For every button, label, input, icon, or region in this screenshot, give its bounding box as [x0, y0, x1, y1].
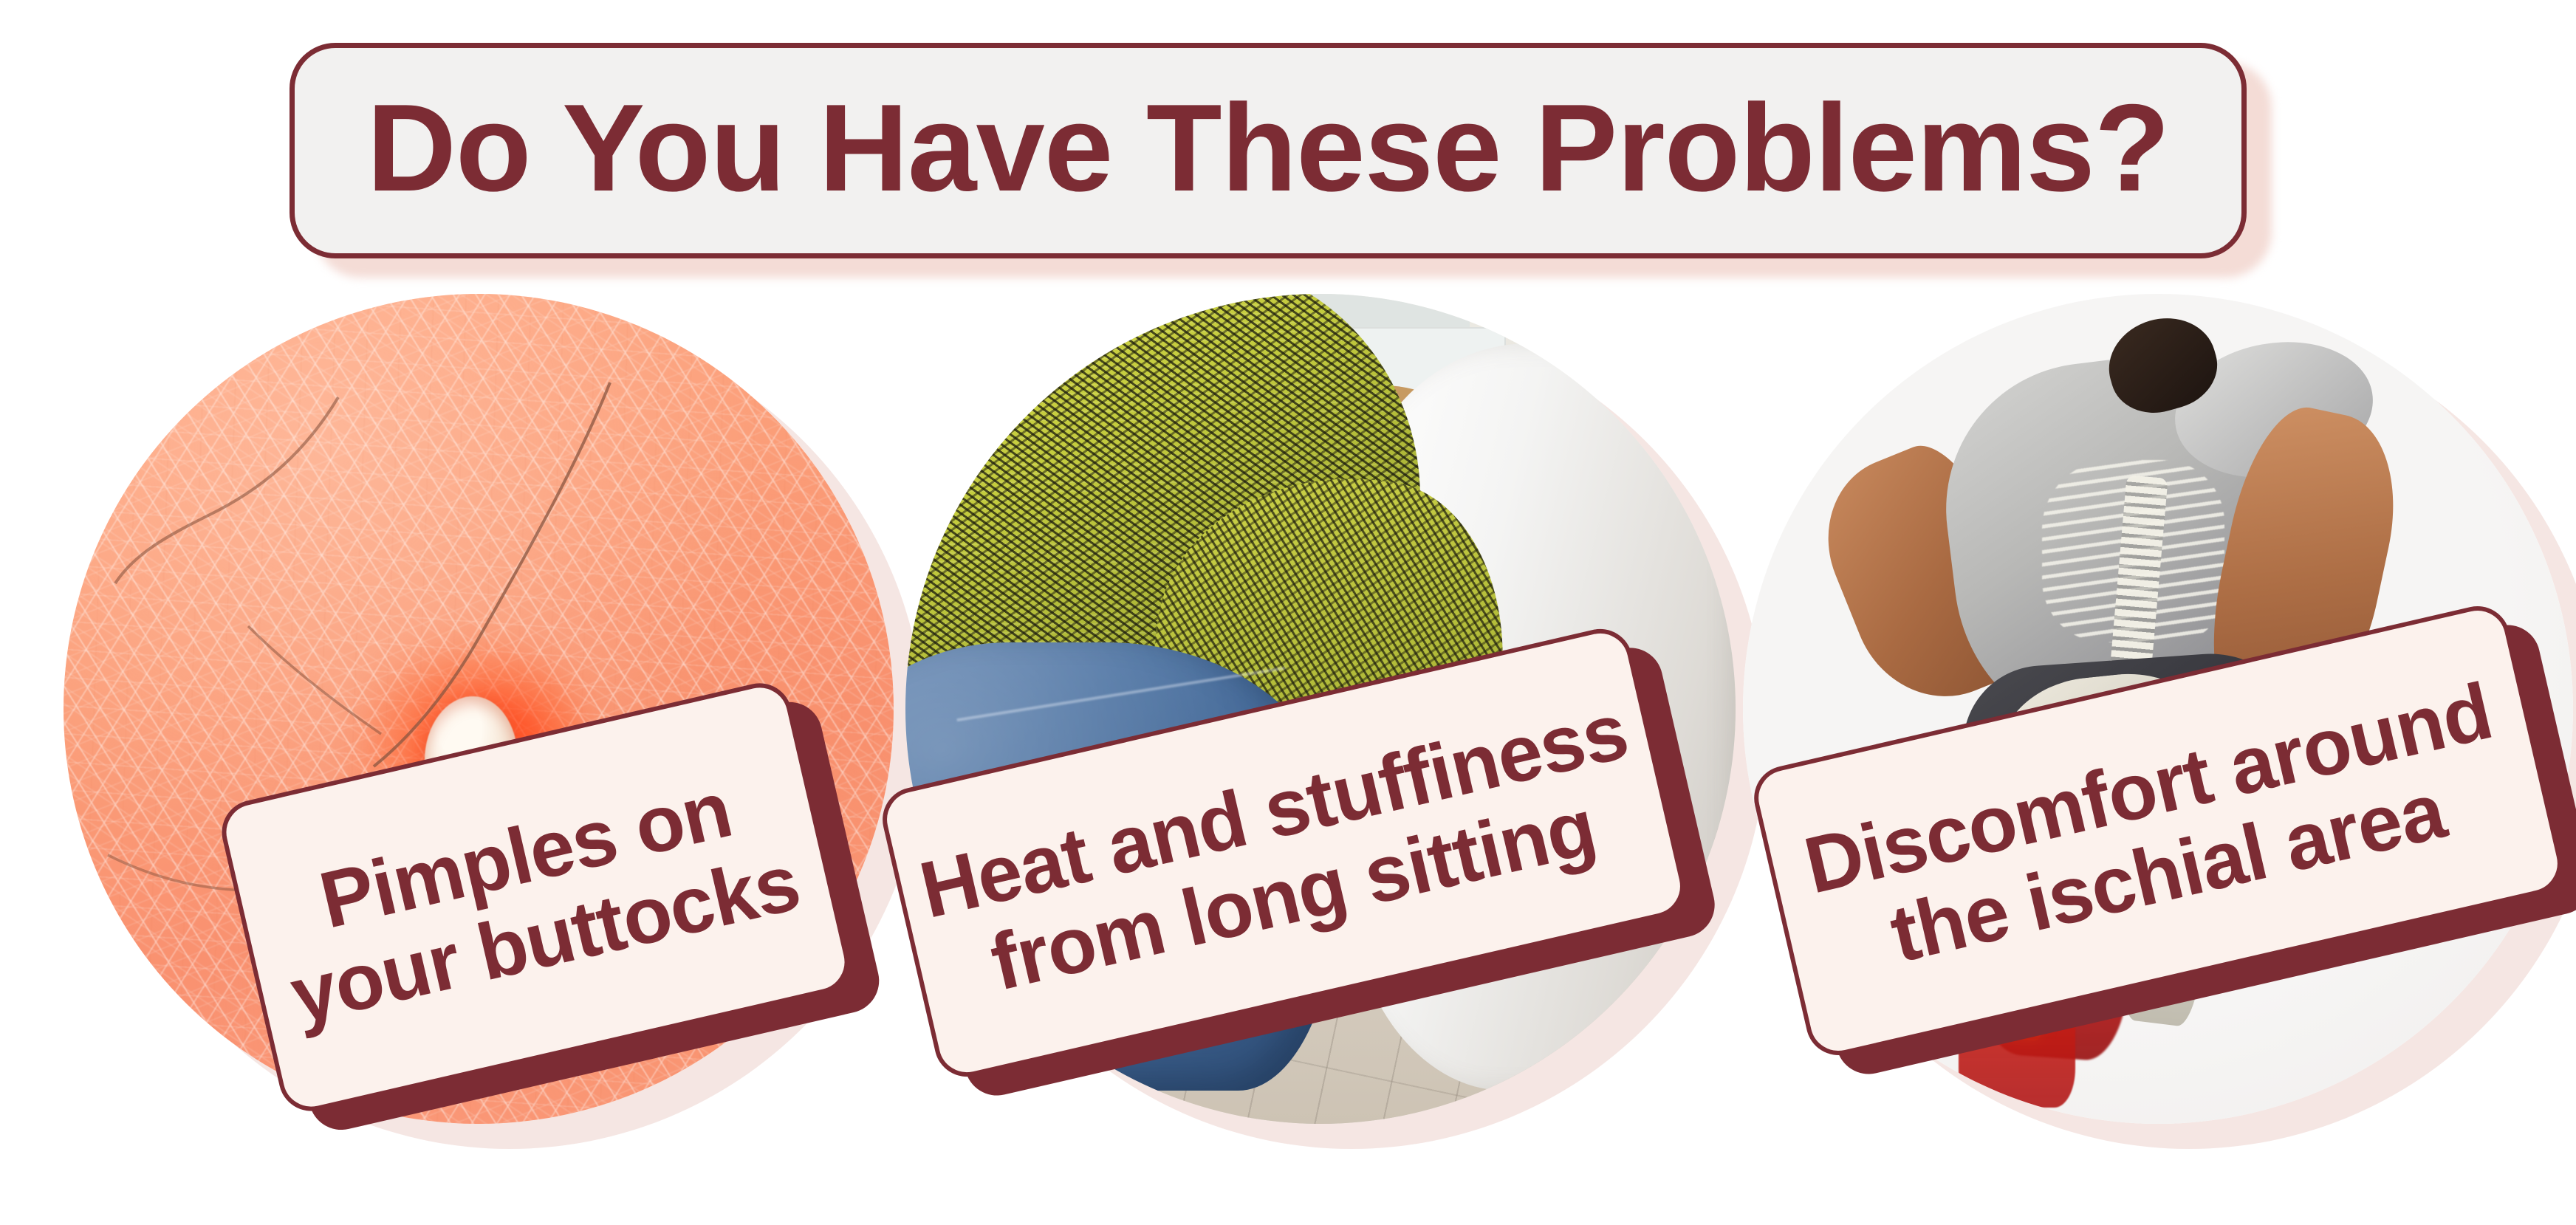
title-banner-box: Do You Have These Problems? [290, 43, 2247, 258]
badge-label: Pimples on your buttocks [264, 755, 807, 1040]
page-title: Do You Have These Problems? [367, 86, 2170, 210]
page-title-banner: Do You Have These Problems? [290, 43, 2247, 258]
